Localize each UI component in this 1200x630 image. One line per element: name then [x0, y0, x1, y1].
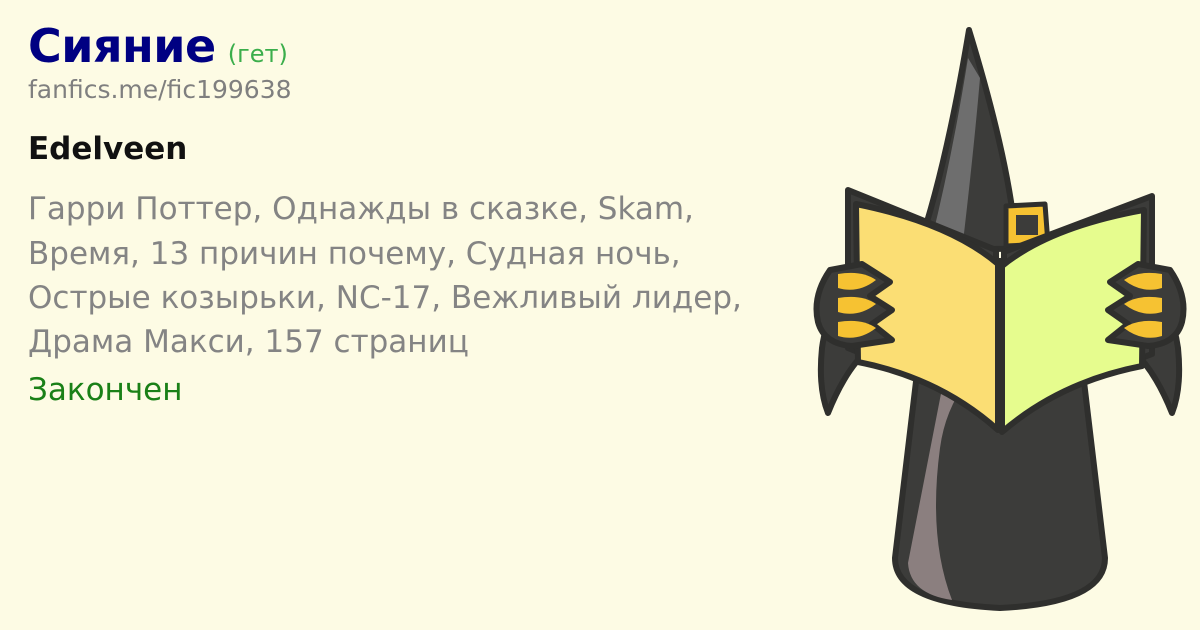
author-name: Edelveen — [28, 132, 808, 168]
fandom-tags-text: Гарри Поттер, Однажды в сказке, Skam, Вр… — [28, 187, 758, 364]
witch-reading-illustration — [800, 18, 1200, 618]
category-label: (гет) — [228, 42, 288, 66]
status-badge: Закончен — [28, 371, 808, 410]
link-preview-card: Сияние (гет) fanfics.me/fic199638 Edelve… — [0, 0, 1200, 630]
hat-buckle-hole — [1016, 215, 1038, 235]
text-column: Сияние (гет) fanfics.me/fic199638 Edelve… — [28, 22, 808, 410]
source-url[interactable]: fanfics.me/fic199638 — [28, 76, 808, 104]
book-spine — [996, 258, 1004, 430]
title-row: Сияние (гет) — [28, 22, 808, 70]
page-title: Сияние — [28, 22, 216, 70]
